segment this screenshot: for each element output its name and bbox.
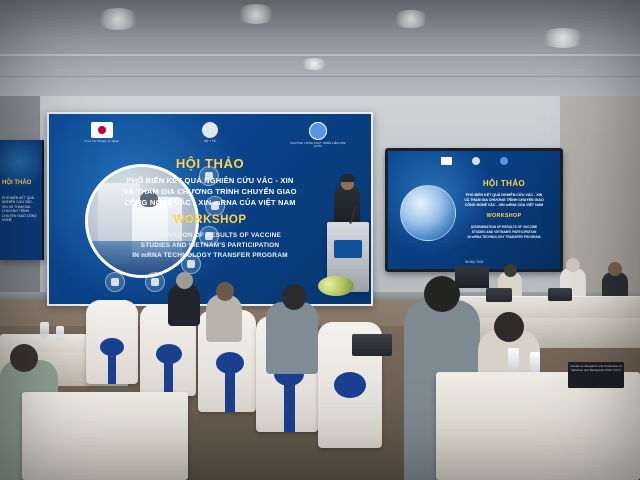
panel-member-2-head [566, 258, 580, 272]
ceiling-seam [0, 54, 640, 56]
water-glass-4 [530, 352, 540, 372]
audience-person-3 [266, 302, 318, 374]
backdrop-subtitle-vn-1: PHỔ BIẾN KẾT QUẢ NGHIÊN CỨU VẮC - XIN [49, 176, 371, 185]
chair-bow-tail-1 [108, 352, 116, 384]
panel-member-3-head [608, 262, 622, 276]
slide-footer: Hà Nội, 2024 [388, 260, 560, 264]
ceiling [0, 0, 640, 96]
backdrop-subtitle-en-1: DISSEMINATION OF RESULTS OF VACCINE [49, 232, 371, 239]
water-glass-2 [56, 326, 64, 341]
podium-emblem [334, 240, 362, 258]
front-laptop [352, 334, 392, 356]
audience-person-2 [206, 294, 242, 342]
flower-arrangement [318, 276, 354, 296]
backdrop-subtitle-vn-3: CÔNG NGHỆ VẮC - XIN mRNA CỦA VIỆT NAM [49, 198, 371, 207]
un-globe-icon [309, 122, 327, 140]
backdrop-subtitle-en-2: STUDIES AND VIETNAM'S PARTICIPATION [49, 242, 371, 249]
water-glass-3 [508, 348, 519, 370]
ceiling-light-1 [96, 8, 140, 30]
slide-subtitle-vn-2: VÀ THAM GIA CHƯƠNG TRÌNH CHUYỂN GIAO [450, 198, 558, 203]
slide-subtitle-en-3: IN mRNA TECHNOLOGY TRANSFER PROGRAM [450, 235, 558, 239]
display-stand [455, 266, 489, 288]
shield-icon [145, 272, 165, 292]
chair-bow-5 [334, 372, 366, 398]
slide-logo-row [388, 154, 560, 167]
panel-laptop-2 [548, 288, 572, 301]
side-display-subtitle: PHỔ BIẾN KẾT QUẢ NGHIÊN CỨU VẮC - XIN VÀ… [2, 196, 40, 222]
slide-subtitle-vn-3: CÔNG NGHỆ VẮC - XIN mRNA CỦA VIỆT NAM [450, 203, 558, 208]
conference-photo-scene: HỘI THẢO PHỔ BIẾN KẾT QUẢ NGHIÊN CỨU VẮC… [0, 0, 640, 480]
slide-heading-en: WORKSHOP [450, 213, 558, 219]
audience-head-6 [494, 312, 524, 342]
audience-head-4 [424, 276, 460, 312]
backdrop-subtitle-en-3: IN mRNA TECHNOLOGY TRANSFER PROGRAM [49, 252, 371, 259]
panel-member-1-head [504, 264, 517, 277]
front-table-right [436, 372, 640, 480]
chair-bow-tail-3 [225, 368, 235, 412]
japan-logo-caption: From the People of Japan [70, 140, 134, 143]
backdrop-banner: From the People of Japan BỘ Y TẾ CHƯƠNG … [47, 112, 373, 306]
chair-bow-tail-2 [164, 358, 173, 396]
side-display-heading: HỘI THẢO [2, 180, 40, 186]
ceiling-seam-2 [0, 76, 640, 77]
nameplate-right: Center for Research and Production of Va… [568, 362, 624, 388]
slide-moh-seal-icon [472, 157, 480, 165]
front-table-left [22, 392, 188, 480]
moh-logo-caption: BỘ Y TẾ [178, 140, 242, 143]
virus-icon [105, 272, 125, 292]
undp-logo-caption: CHƯƠNG TRÌNH PHÁT TRIỂN LIÊN HỢP QUỐC [286, 142, 350, 149]
moh-seal-icon [202, 122, 218, 138]
audience-head-1 [176, 272, 193, 289]
slide-subtitle-en-1: DISSEMINATION OF RESULTS OF VACCINE [450, 225, 558, 229]
slide-japan-flag-icon [441, 157, 452, 165]
water-glass-1 [40, 322, 49, 338]
side-display: HỘI THẢO PHỔ BIẾN KẾT QUẢ NGHIÊN CỨU VẮC… [0, 140, 44, 260]
slide-globe-graphic [400, 185, 456, 241]
slide-subtitle-en-2: STUDIES AND VIETNAM'S PARTICIPATION [450, 230, 558, 234]
audience-head-5 [10, 344, 38, 372]
slide-un-globe-icon [500, 157, 508, 165]
panel-laptop [486, 288, 512, 302]
japan-flag-logo: From the People of Japan [70, 122, 134, 143]
slide-heading-vn: HỘI THẢO [450, 179, 558, 188]
backdrop-logo-row: From the People of Japan BỘ Y TẾ CHƯƠNG … [49, 122, 371, 152]
ceiling-light-2 [236, 4, 276, 24]
chair-bow-tail-4 [284, 380, 295, 432]
speaker-hair [340, 174, 355, 182]
slide-content: HỘI THẢO PHỔ BIẾN KẾT QUẢ NGHIÊN CỨU VẮC… [388, 151, 560, 269]
wall-mounted-display: HỘI THẢO PHỔ BIẾN KẾT QUẢ NGHIÊN CỨU VẮC… [385, 148, 563, 272]
japan-flag-icon [91, 122, 113, 138]
backdrop-subtitle-vn-2: VÀ THAM GIA CHƯƠNG TRÌNH CHUYỂN GIAO [49, 187, 371, 196]
audience-head-2 [216, 282, 234, 301]
ceiling-light-3 [392, 10, 430, 28]
backdrop-heading-en: WORKSHOP [49, 214, 371, 226]
audience-head-3 [282, 284, 306, 310]
ceiling-light-5 [300, 58, 328, 70]
ceiling-light-4 [540, 28, 586, 48]
moh-vietnam-logo: BỘ Y TẾ [178, 122, 242, 143]
undp-logo: CHƯƠNG TRÌNH PHÁT TRIỂN LIÊN HỢP QUỐC [286, 122, 350, 149]
slide-subtitle-vn-1: PHỔ BIẾN KẾT QUẢ NGHIÊN CỨU VẮC - XIN [450, 193, 558, 198]
backdrop-heading-vn: HỘI THẢO [49, 156, 371, 171]
